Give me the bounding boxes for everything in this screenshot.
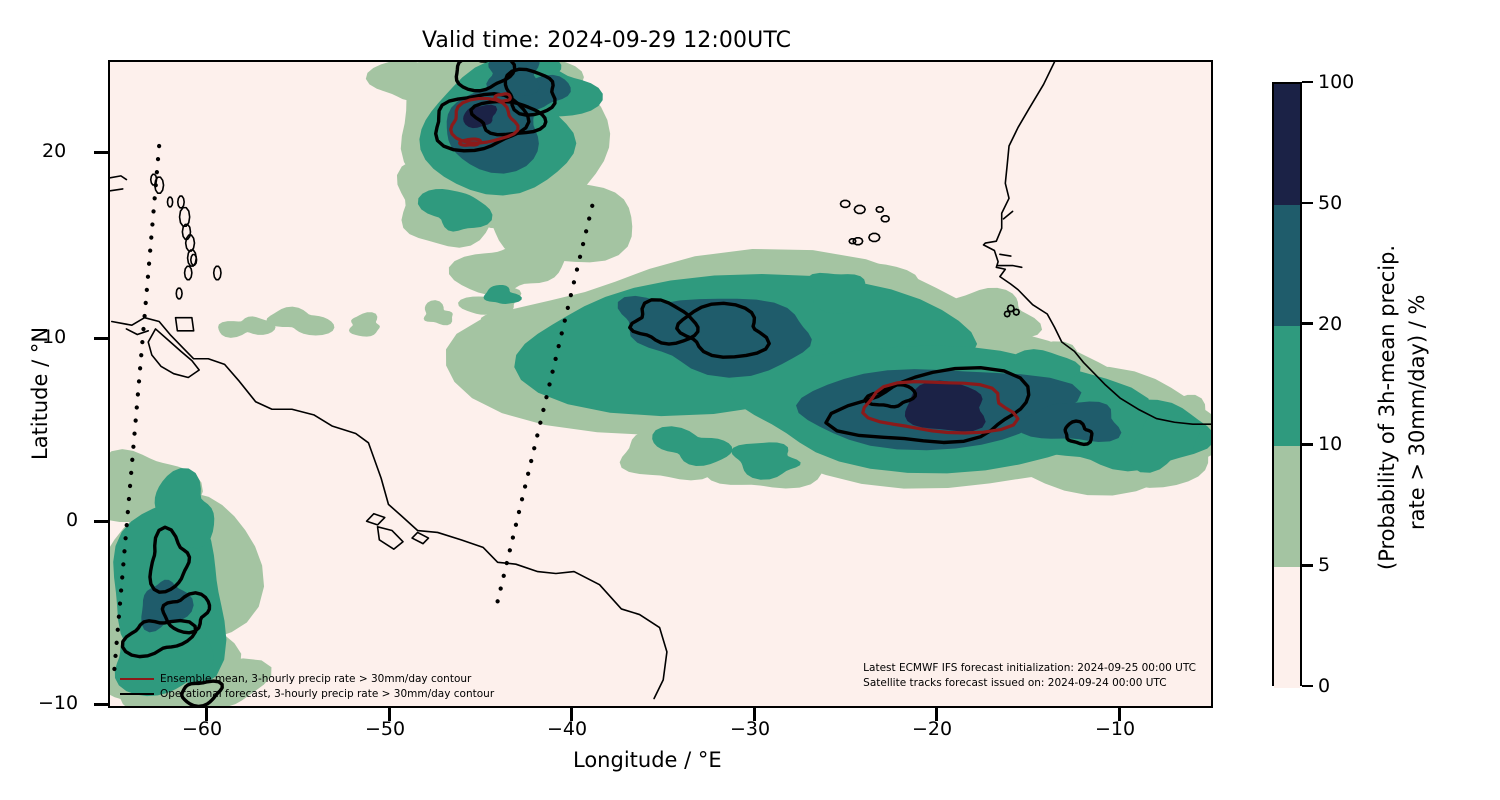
- y-tick-mark: [94, 703, 108, 706]
- annotation-line-satellite: Satellite tracks forecast issued on: 202…: [863, 676, 1196, 692]
- colorbar-label-line2: rate > 30mm/day) / %: [1405, 294, 1429, 530]
- x-tick-mark: [388, 708, 391, 721]
- legend-label-operational: Operational forecast, 3-hourly precip ra…: [160, 687, 494, 702]
- figure-root: Valid time: 2024-09-29 12:00UTC 20 10 0 …: [0, 0, 1500, 800]
- x-tick-mark: [935, 708, 938, 721]
- x-tick-mark: [570, 708, 573, 721]
- colorbar-segment: [1274, 84, 1300, 205]
- annotation-line-initialization: Latest ECMWF IFS forecast initialization…: [863, 661, 1196, 677]
- x-tick-mark: [1118, 708, 1121, 721]
- colorbar-segment: [1274, 205, 1300, 326]
- x-tick-label: −20: [912, 718, 952, 740]
- x-tick-label: −60: [182, 718, 222, 740]
- colorbar-segment: [1274, 567, 1300, 688]
- y-tick-mark: [94, 337, 108, 340]
- contour-legend: Ensemble mean, 3-hourly precip rate > 30…: [120, 672, 494, 702]
- colorbar-tick-label: 0: [1318, 675, 1330, 697]
- y-axis-label: Latitude / °N: [28, 327, 52, 460]
- colorbar-segment: [1274, 326, 1300, 447]
- y-tick-mark: [94, 151, 108, 154]
- colorbar-tick-mark: [1302, 322, 1313, 325]
- colorbar-tick-label: 5: [1318, 554, 1330, 576]
- colorbar-tick-mark: [1302, 443, 1313, 446]
- colorbar-tick-mark: [1302, 564, 1313, 567]
- operational-contour-swatch: [120, 693, 154, 695]
- legend-row-operational: Operational forecast, 3-hourly precip ra…: [120, 687, 494, 702]
- x-tick-label: −10: [1095, 718, 1135, 740]
- colorbar-tick-mark: [1302, 202, 1313, 205]
- ensemble-contour-swatch: [120, 678, 154, 680]
- colorbar-segment: [1274, 446, 1300, 567]
- colorbar-tick-label: 20: [1318, 313, 1342, 335]
- x-axis-label: Longitude / °E: [573, 748, 722, 772]
- page-title: Valid time: 2024-09-29 12:00UTC: [0, 28, 1213, 53]
- x-tick-label: −30: [730, 718, 770, 740]
- x-tick-mark: [205, 708, 208, 721]
- precipitation-probability-map: [110, 62, 1211, 706]
- colorbar-tick-label: 10: [1318, 433, 1342, 455]
- colorbar-tick-mark: [1302, 685, 1313, 688]
- colorbar-label-line1: (Probability of 3h-mean precip.: [1375, 245, 1399, 570]
- x-tick-label: −50: [365, 718, 405, 740]
- y-tick-mark: [94, 520, 108, 523]
- legend-label-ensemble: Ensemble mean, 3-hourly precip rate > 30…: [160, 672, 471, 687]
- legend-row-ensemble: Ensemble mean, 3-hourly precip rate > 30…: [120, 672, 494, 687]
- map-plot-area[interactable]: Ensemble mean, 3-hourly precip rate > 30…: [108, 60, 1213, 708]
- colorbar-tick-label: 100: [1318, 71, 1354, 93]
- colorbar-tick-label: 50: [1318, 192, 1342, 214]
- forecast-metadata-box: Latest ECMWF IFS forecast initialization…: [859, 659, 1200, 695]
- colorbar[interactable]: [1272, 82, 1302, 686]
- x-tick-mark: [753, 708, 756, 721]
- colorbar-tick-mark: [1302, 81, 1313, 84]
- x-tick-label: −40: [547, 718, 587, 740]
